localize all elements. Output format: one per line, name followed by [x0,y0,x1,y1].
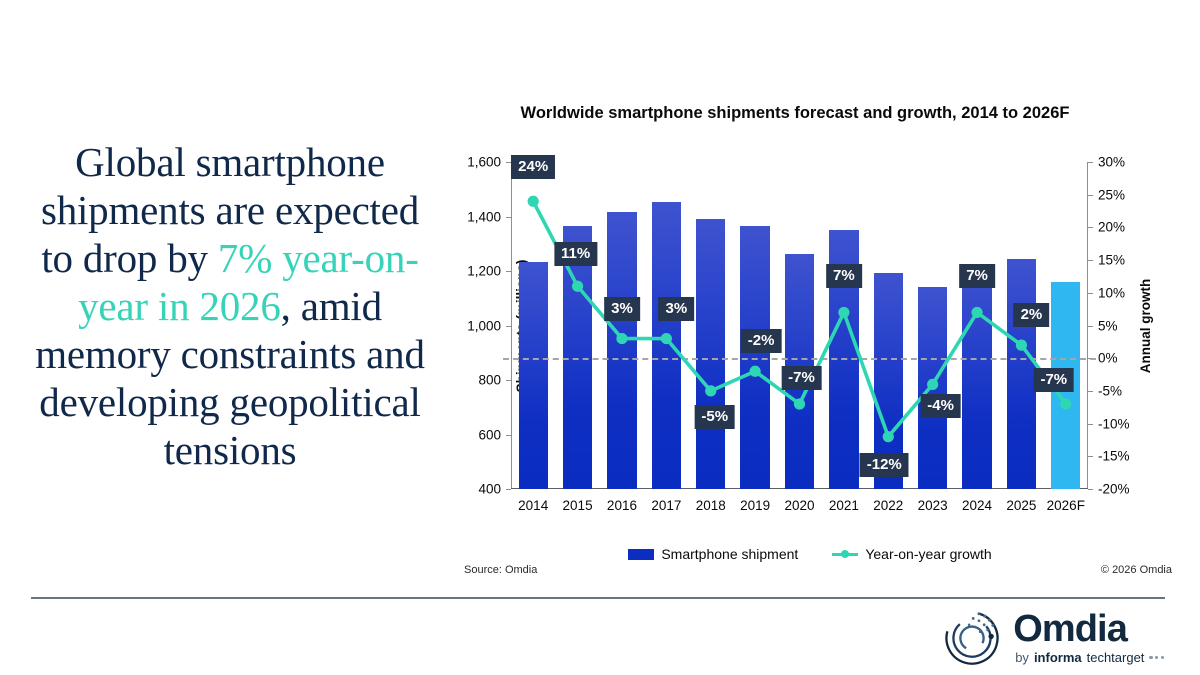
bar-2023[interactable] [918,287,947,489]
growth-label-2020: -7% [781,366,822,390]
chart-panel: Worldwide smartphone shipments forecast … [440,96,1180,581]
growth-label-2016: 3% [604,297,640,321]
growth-label-2021: 7% [826,264,862,288]
y-tick-mark-right [1088,489,1093,490]
brand-tagline: by informa techtarget [1015,651,1164,664]
headline-statement: Global smartphone shipments are expected… [30,138,430,474]
growth-label-2019: -2% [741,329,782,353]
plot-area: Shipments (millions) Annual growth 40060… [511,162,1088,489]
y-tick-label-left: 800 [478,373,501,388]
x-tick-label-2023: 2023 [918,498,948,513]
bar-2017[interactable] [652,202,681,489]
growth-label-2018: -5% [694,405,735,429]
y-tick-mark-right [1088,326,1093,327]
growth-label-2026F: -7% [1033,368,1074,392]
source-note: Source: Omdia [464,564,537,576]
x-tick-label-2019: 2019 [740,498,770,513]
growth-label-2015: 11% [554,242,597,266]
legend-label-shipment: Smartphone shipment [661,546,798,562]
copyright-note: © 2026 Omdia [1101,564,1172,576]
y-tick-label-right: -10% [1098,416,1130,431]
brand-informa-label: informa [1034,651,1082,664]
axis-spine-left [511,162,512,489]
x-tick-label-2025: 2025 [1006,498,1036,513]
y-tick-label-right: 15% [1098,253,1125,268]
y-axis-title-right: Annual growth [1137,278,1152,373]
y-tick-label-right: 0% [1098,351,1118,366]
brand-by-label: by [1015,651,1029,664]
growth-label-2025: 2% [1014,303,1050,327]
chart-legend: Smartphone shipment Year-on-year growth [440,546,1180,562]
x-tick-label-2022: 2022 [873,498,903,513]
zero-reference-line [503,358,1096,360]
y-tick-label-right: 10% [1098,285,1125,300]
brand-name: Omdia [1013,610,1127,648]
legend-item-growth[interactable]: Year-on-year growth [832,546,991,562]
y-tick-mark-left [506,217,511,218]
y-tick-mark-right [1088,456,1093,457]
bar-2014[interactable] [519,262,548,489]
legend-item-shipment[interactable]: Smartphone shipment [628,546,798,562]
y-tick-mark-right [1088,424,1093,425]
growth-label-2014: 24% [511,155,555,179]
y-tick-mark-right [1088,195,1093,196]
x-tick-label-2016: 2016 [607,498,637,513]
bar-2018[interactable] [696,219,725,489]
y-tick-label-left: 1,000 [467,318,501,333]
y-tick-mark-right [1088,293,1093,294]
growth-label-2017: 3% [659,297,695,321]
x-tick-label-2018: 2018 [696,498,726,513]
y-tick-mark-left [506,380,511,381]
brand-techtarget-label: techtarget [1087,651,1145,664]
chart-title: Worldwide smartphone shipments forecast … [495,102,1095,124]
y-tick-mark-right [1088,260,1093,261]
y-tick-label-left: 400 [478,482,501,497]
bar-2024[interactable] [962,266,991,489]
y-tick-mark-right [1088,162,1093,163]
growth-label-2024: 7% [959,264,995,288]
y-tick-label-right: 20% [1098,220,1125,235]
y-tick-mark-left [506,271,511,272]
y-tick-label-right: -5% [1098,383,1122,398]
legend-label-growth: Year-on-year growth [865,546,991,562]
footer-divider [31,597,1165,599]
growth-label-2023: -4% [920,394,961,418]
x-tick-label-2020: 2020 [784,498,814,513]
x-tick-label-2026F: 2026F [1047,498,1085,513]
y-tick-mark-left [506,489,511,490]
y-tick-mark-right [1088,227,1093,228]
legend-line-swatch-icon [832,549,858,560]
x-tick-label-2015: 2015 [563,498,593,513]
omdia-wordmark: Omdia by informa techtarget [1013,610,1164,664]
y-tick-mark-left [506,326,511,327]
bar-2016[interactable] [607,212,636,489]
bar-2025[interactable] [1007,259,1036,489]
x-tick-label-2021: 2021 [829,498,859,513]
y-tick-label-left: 1,200 [467,264,501,279]
x-tick-label-2024: 2024 [962,498,992,513]
y-tick-label-left: 600 [478,427,501,442]
y-tick-label-left: 1,400 [467,209,501,224]
y-tick-label-right: -15% [1098,449,1130,464]
omdia-spiral-logo-icon [943,608,1001,666]
x-tick-label-2017: 2017 [651,498,681,513]
omdia-brand-lockup: Omdia by informa techtarget [943,606,1164,668]
growth-label-2022: -12% [860,453,909,477]
x-tick-label-2014: 2014 [518,498,548,513]
y-tick-label-right: 5% [1098,318,1118,333]
y-tick-label-right: -20% [1098,482,1130,497]
legend-bar-swatch-icon [628,549,654,560]
y-tick-label-right: 25% [1098,187,1125,202]
y-tick-mark-left [506,435,511,436]
y-tick-label-left: 1,600 [467,155,501,170]
y-tick-label-right: 30% [1098,155,1125,170]
y-tick-mark-right [1088,391,1093,392]
brand-dots-icon [1149,656,1164,659]
